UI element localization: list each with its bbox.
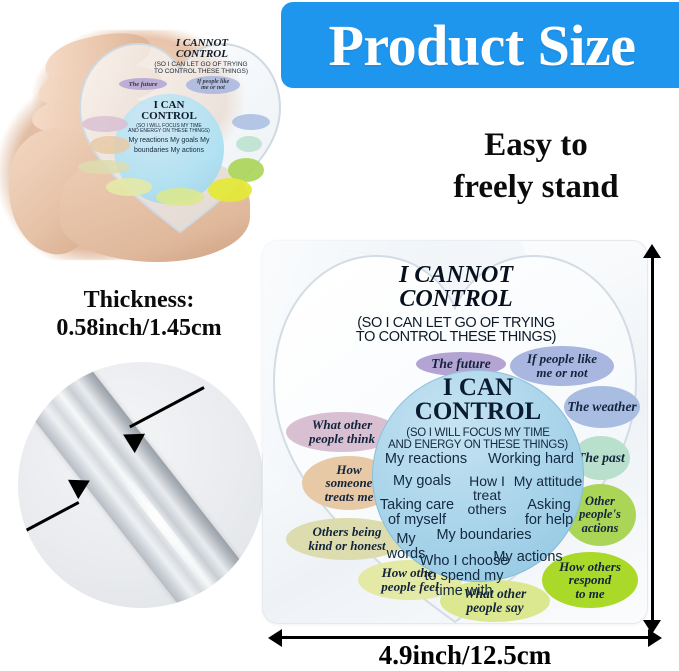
can-control-subtitle-line-1: (SO I WILL FOCUS MY TIME [406,427,549,439]
held-bubble-what-other-people-say [156,188,204,206]
held-cannot-sub: (SO I CAN LET GO OF TRYING TO CONTROL TH… [126,62,276,76]
held-can-title-2: CONTROL [141,110,197,122]
thickness-label-title: Thickness: [8,286,270,314]
held-can-items: My reactions My goals My boundaries My a… [114,136,224,156]
held-can-item: My actions [171,147,204,154]
held-can-sub: (SO I WILL FOCUS MY TIME AND ENERGY ON T… [114,124,224,135]
held-bubble-how-others-respond [208,178,252,202]
can-control-subtitle-line-2: AND ENERGY ON THESE THINGS) [388,439,568,451]
width-dimension-arrow-left [268,629,282,647]
cannot-control-title: I CANNOT CONTROL [286,264,626,311]
held-bubble-how-someone-treats-me [90,136,130,154]
cannot-control-subtitle: (SO I CAN LET GO OF TRYING TO CONTROL TH… [286,316,626,344]
held-heart-plaque: I CANNOT CONTROL (SO I CAN LET GO OF TRY… [76,32,284,238]
held-can-sub-2: AND ENERGY ON THESE THINGS) [128,128,210,134]
cannot-control-subtitle-line-2: TO CONTROL THESE THINGS) [356,329,556,345]
product-size-banner: Product Size [281,2,679,88]
can-item-working-hard: Working hard [480,452,582,467]
width-dimension-arrow-right [648,629,662,647]
held-bubble-the-future: The future [119,78,167,90]
can-item-my-attitude: My attitude [508,474,588,488]
held-can-title: I CAN CONTROL [114,100,224,122]
can-control-title-line-1: I CAN [443,374,513,401]
held-cannot-sub-2: TO CONTROL THESE THINGS) [154,68,248,75]
height-dimension-line [651,256,654,622]
hand-holding-product-photo: I CANNOT CONTROL (SO I CAN LET GO OF TRY… [0,8,292,266]
held-bubble-others-being-kind [78,160,130,174]
can-item-my-goals: My goals [384,474,460,489]
held-can-item: My goals [170,137,198,144]
tagline-line-2: freely stand [400,166,672,208]
held-cannot-title-2: CONTROL [176,48,228,60]
can-item-my-reactions: My reactions [376,452,476,467]
can-item-taking-care-of-myself: Taking care of myself [374,498,460,527]
held-bubble-the-past [236,136,262,152]
tagline: Easy to freely stand [400,124,672,208]
cannot-control-title-line-2: CONTROL [399,286,512,312]
held-bubble-what-other-people-think [82,116,128,132]
heart-plaque-artwork: I CANNOT CONTROL (SO I CAN LET GO OF TRY… [264,240,646,630]
cannot-control-title-line-1: I CANNOT [399,262,513,288]
banner-title: Product Size [328,12,643,79]
can-item-my-boundaries: My boundaries [432,528,536,543]
can-control-title-line-2: CONTROL [415,398,541,425]
thickness-arrow-line [23,501,79,533]
held-bubble-the-weather [232,114,270,130]
can-control-subtitle: (SO I WILL FOCUS MY TIME AND ENERGY ON T… [368,428,588,451]
tagline-line-1: Easy to [400,124,672,166]
thickness-label: Thickness: 0.58inch/1.45cm [8,286,270,343]
can-item-who-i-choose-to-spend-time-with: Who I choose to spend my time with [406,554,522,598]
thickness-arrow-line [129,386,205,428]
width-dimension-label: 4.9inch/12.5cm [282,640,648,671]
held-bubble-how-other-people-feel [106,178,152,196]
held-cannot-title: I CANNOT CONTROL [132,38,272,60]
height-dimension-arrow-top [643,244,661,258]
can-control-title: I CAN CONTROL [372,376,584,424]
held-can-item: My reactions [129,137,169,144]
product-size-infographic: Product Size Easy to freely stand Thickn… [0,0,679,670]
held-bubble-if-people-like-me: If people like me or not [186,76,240,94]
thickness-closeup-photo [18,362,264,608]
thickness-label-value: 0.58inch/1.45cm [8,314,270,342]
main-product-photo: I CANNOT CONTROL (SO I CAN LET GO OF TRY… [258,236,658,634]
can-item-asking-for-help: Asking for help [518,498,580,527]
width-dimension-line [282,636,648,639]
